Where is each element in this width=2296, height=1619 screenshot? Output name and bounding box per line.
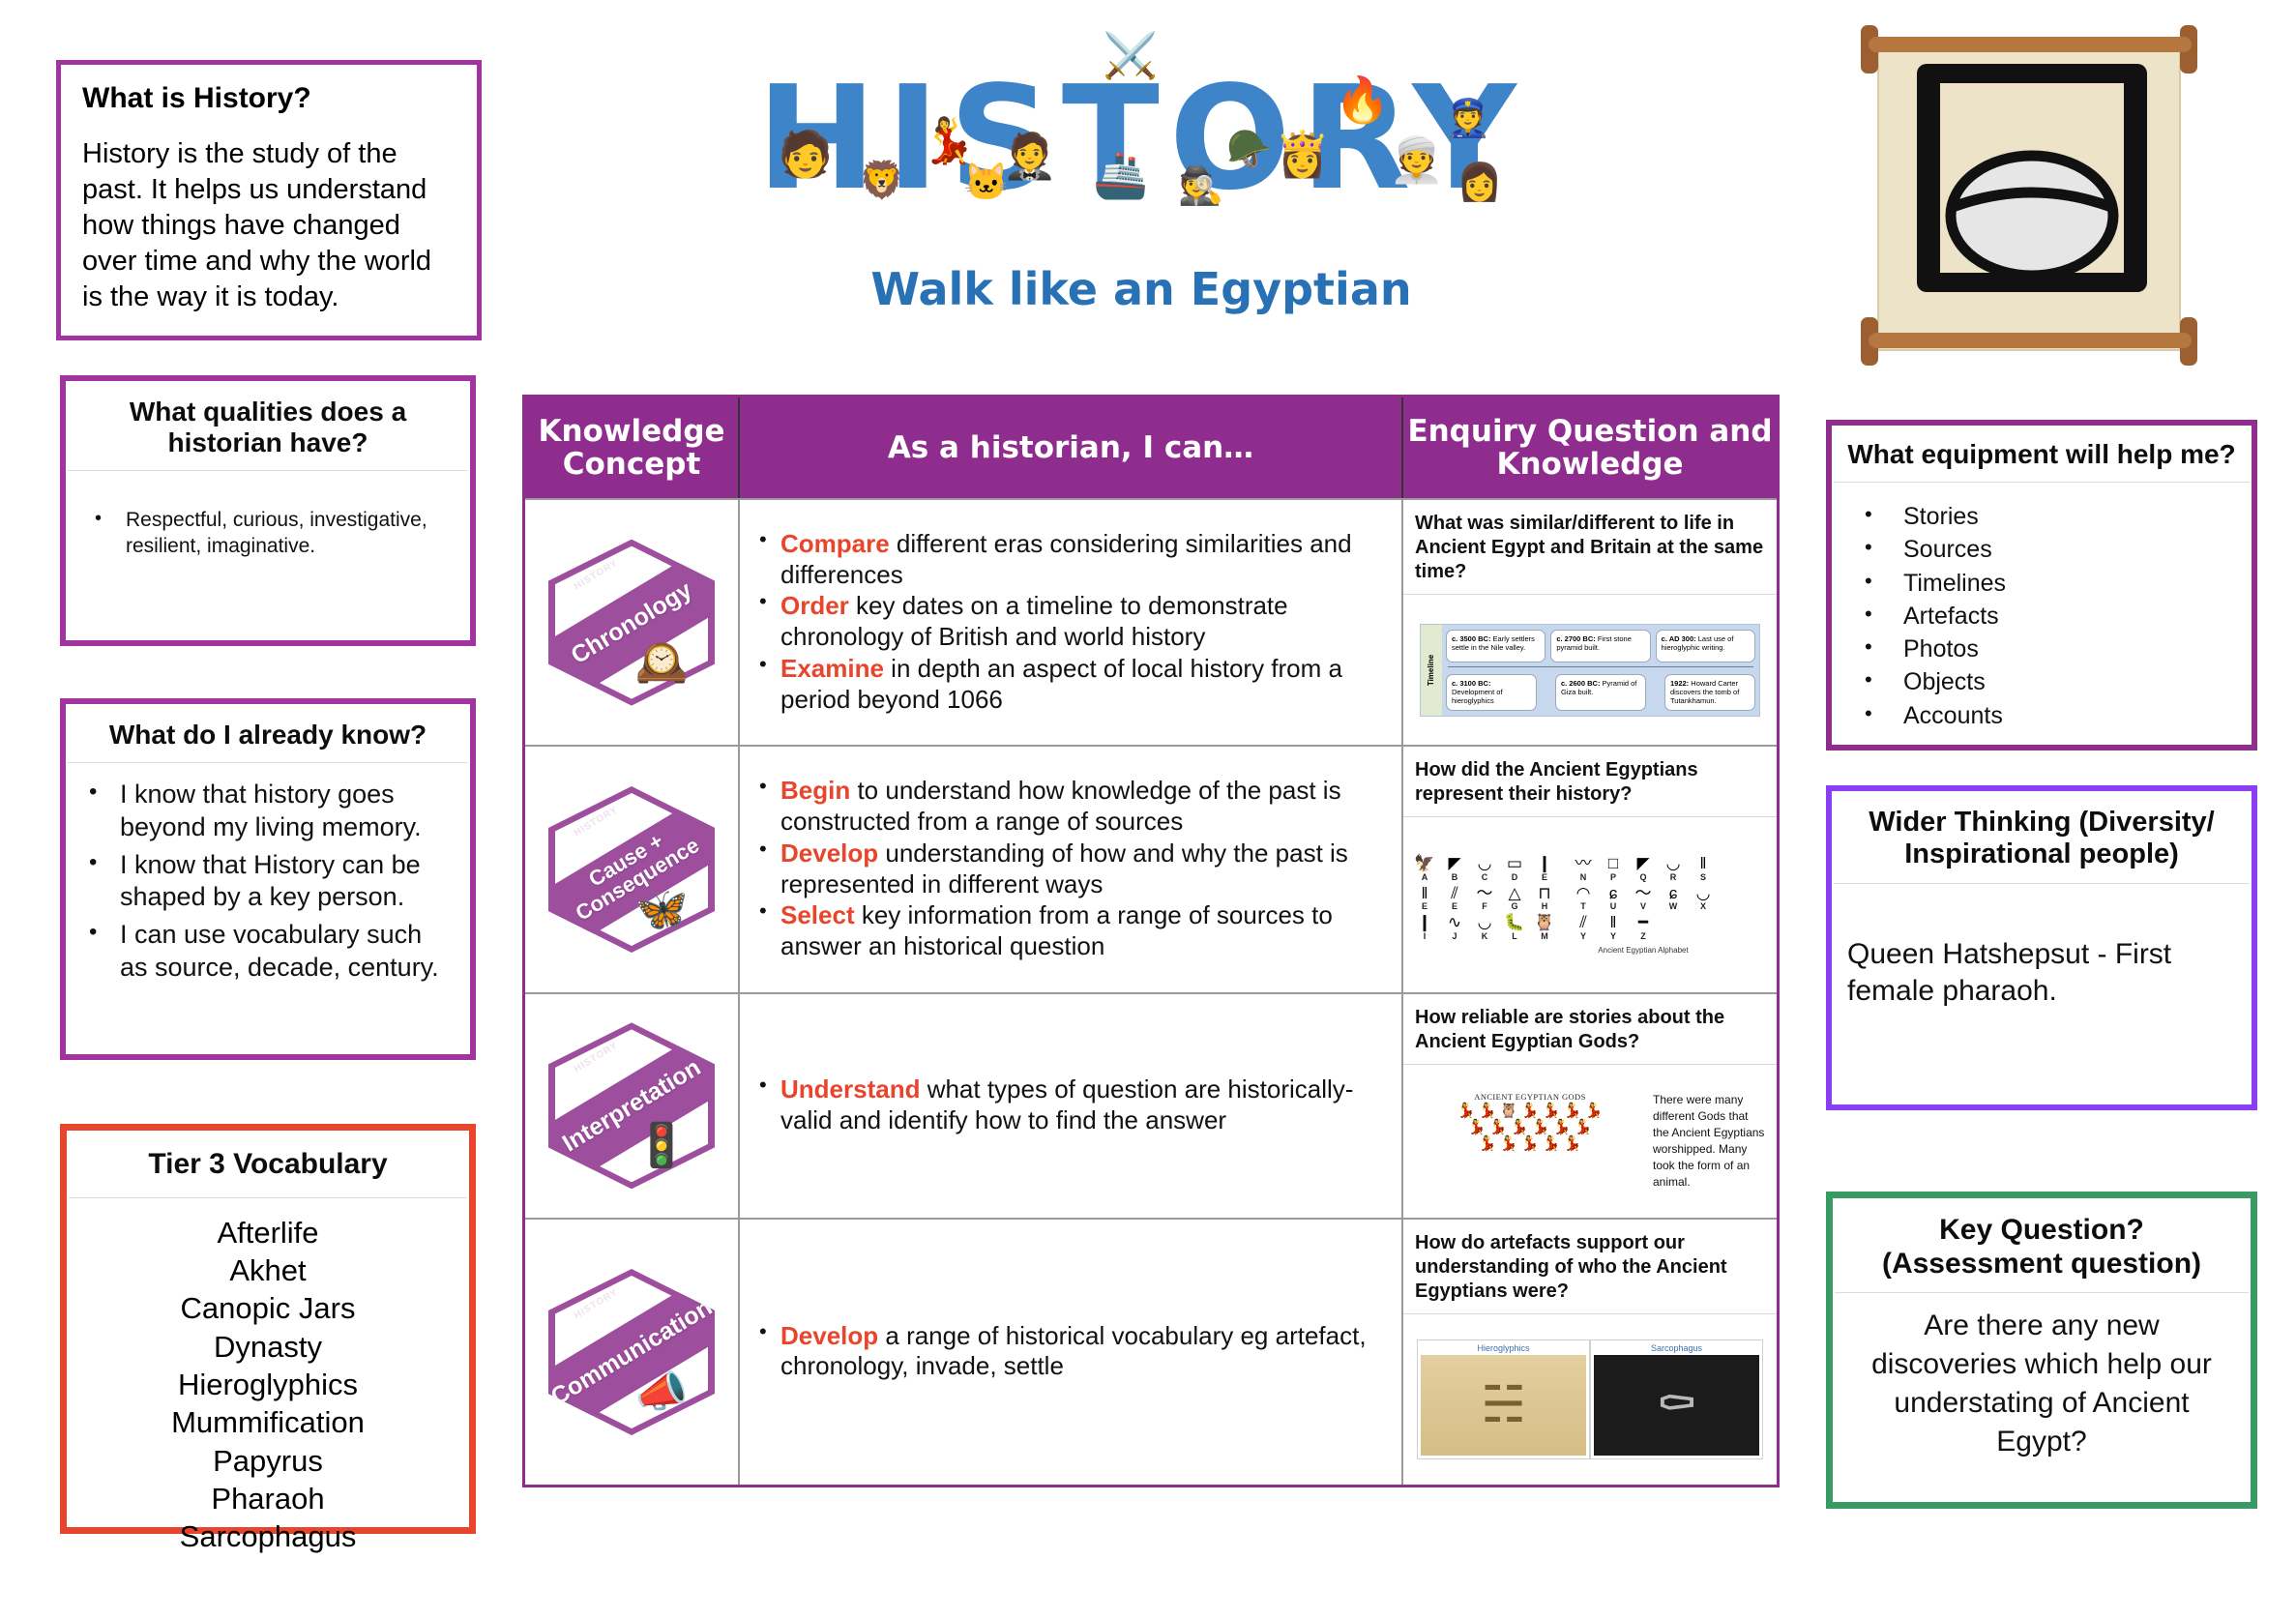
enquiry-question: How reliable are stories about the Ancie… [1403, 994, 1777, 1064]
cause-consequence-hex-badge: HISTORY Cause + Consequence 🦋 [548, 786, 715, 953]
concept-cell: HISTORY Communication 📣 [525, 1220, 740, 1485]
god-figure: 💃 [1532, 1120, 1550, 1134]
god-figure: 💃 [1585, 1104, 1604, 1118]
artefact-item: Hieroglyphics ☵ [1417, 1339, 1590, 1459]
god-figure: 💃 [1500, 1136, 1518, 1151]
table-row: HISTORY Communication 📣 Develop a range … [525, 1218, 1777, 1485]
enquiry-cell: How did the Ancient Egyptians represent … [1403, 747, 1777, 991]
objectives-list: Begin to understand how knowledge of the… [757, 776, 1388, 962]
objectives-list: Understand what types of question are hi… [757, 1074, 1388, 1136]
list-item: Understand what types of question are hi… [757, 1074, 1388, 1135]
what-is-history-body: History is the study of the past. It hel… [61, 115, 477, 316]
timeline-event: c. 3500 BC: Early settlers settle in the… [1446, 630, 1545, 662]
god-figure: 💃 [1457, 1104, 1476, 1118]
glyph: ∿J [1443, 914, 1466, 941]
table-row: HISTORY Cause + Consequence 🦋 Begin to u… [525, 745, 1777, 991]
glyph: ‖Y [1602, 914, 1625, 941]
glyph: ‖E [1413, 885, 1436, 912]
objectives-cell: Develop a range of historical vocabulary… [740, 1220, 1403, 1485]
timeline-event: c. 2700 BC: First stone pyramid built. [1550, 630, 1650, 662]
sarcophagus-image: ⚰ [1594, 1355, 1759, 1456]
enquiry-cell: How reliable are stories about the Ancie… [1403, 994, 1777, 1218]
god-figure: 💃 [1543, 1136, 1561, 1151]
objectives-list: Develop a range of historical vocabulary… [757, 1321, 1388, 1383]
interpretation-hex-badge: HISTORY Interpretation 🚦 [548, 1022, 715, 1189]
list-item: Akhet [67, 1251, 469, 1289]
glyph: ❙I [1413, 914, 1436, 941]
objectives-cell: Understand what types of question are hi… [740, 994, 1403, 1218]
god-figure: 💃 [1564, 1104, 1582, 1118]
list-item: Begin to understand how knowledge of the… [757, 776, 1388, 837]
glyph: ⫽Y [1572, 914, 1595, 941]
list-item: Pharaoh [67, 1480, 469, 1517]
topic-subtitle: Walk like an Egyptian [774, 263, 1509, 315]
list-item: I know that History can be shaped by a k… [81, 849, 455, 915]
timeline-event: 1922: Howard Carter discovers the tomb o… [1664, 674, 1755, 711]
artefact-item: Sarcophagus ⚰ [1590, 1339, 1763, 1459]
enquiry-cell: How do artefacts support our understandi… [1403, 1220, 1777, 1485]
wider-thinking-panel: Wider Thinking (Diversity/ Inspirational… [1826, 785, 2257, 1110]
timeline-side-label: Timeline [1421, 625, 1442, 716]
glyph: ɕU [1602, 885, 1625, 912]
list-item: Compare different eras considering simil… [757, 529, 1388, 590]
glyph: ◡X [1692, 885, 1715, 912]
god-figure: 💃 [1511, 1120, 1529, 1134]
gods-figure-rows: 💃 💃 🦉 💃 💃 💃 💃 💃 [1415, 1104, 1645, 1151]
artefacts-graphic: Hieroglyphics ☵ Sarcophagus ⚰ [1403, 1314, 1777, 1485]
glyph: 🐛L [1503, 914, 1526, 941]
glyph: 🦅A [1413, 855, 1436, 882]
prior-knowledge-title: What do I already know? [66, 704, 470, 762]
god-figure: 💃 [1575, 1120, 1593, 1134]
timeline-graphic: Timeline c. 3500 BC: Early settlers sett… [1403, 595, 1777, 745]
equipment-title: What equipment will help me? [1832, 426, 2252, 482]
glyph: ‖S [1692, 855, 1715, 882]
tier3-vocabulary-list: Afterlife Akhet Canopic Jars Dynasty Hie… [67, 1198, 469, 1556]
timeline-axis [1448, 666, 1753, 667]
glyph: ❙E [1533, 855, 1556, 882]
glyph: 🦉M [1533, 914, 1556, 941]
key-question-title: Key Question? (Assessment question) [1833, 1198, 2251, 1292]
list-item: Respectful, curious, investigative, resi… [81, 508, 455, 559]
key-question-body: Are there any new discoveries which help… [1833, 1293, 2251, 1475]
historian-qualities-list: Respectful, curious, investigative, resi… [81, 508, 455, 559]
megaphone-icon: 📣 [635, 1371, 689, 1414]
god-figure: 🦉 [1500, 1104, 1518, 1118]
god-figure: 💃 [1521, 1136, 1540, 1151]
egyptian-gods-graphic: ANCIENT EGYPTIAN GODS 💃 💃 🦉 💃 💃 💃 💃 [1403, 1065, 1777, 1218]
list-item: Sources [1847, 535, 2236, 565]
list-item: Canopic Jars [67, 1289, 469, 1327]
glyph: ◡C [1473, 855, 1496, 882]
table-row: HISTORY Chronology 🕰️ Compare different … [525, 498, 1777, 745]
historian-qualities-title: What qualities does a historian have? [66, 381, 470, 470]
objectives-cell: Compare different eras considering simil… [740, 500, 1403, 745]
what-is-history-title: What is History? [61, 65, 477, 115]
glyph: □P [1602, 855, 1625, 882]
list-item: Select key information from a range of s… [757, 900, 1388, 961]
god-figure: 💃 [1479, 1104, 1497, 1118]
history-wordmark-text: HISTORY [756, 67, 1525, 210]
timeline-event: c. AD 300: Last use of hieroglyphic writ… [1656, 630, 1755, 662]
god-figure: 💃 [1553, 1120, 1572, 1134]
glyph: ▭D [1503, 855, 1526, 882]
communication-hex-badge: HISTORY Communication 📣 [548, 1269, 715, 1435]
glyph: ◤Q [1632, 855, 1655, 882]
wider-thinking-body: Queen Hatshepsut - First female pharaoh. [1832, 884, 2252, 1024]
street-signs-icon: 🚦 [635, 1125, 689, 1167]
enquiry-question: How did the Ancient Egyptians represent … [1403, 747, 1777, 816]
artefact-caption: Hieroglyphics [1421, 1343, 1586, 1353]
history-title-artwork: HISTORY 🧑 🦁 💃 🐱 🤵 ⚔️ 🚢 🕵 🪖 👸 🔥 👳 👮 👩 Wal… [774, 17, 1509, 366]
hex-concept-label: Chronology [548, 540, 715, 706]
list-item: Examine in depth an aspect of local hist… [757, 654, 1388, 715]
list-item: Develop understanding of how and why the… [757, 839, 1388, 899]
objectives-list: Compare different eras considering simil… [757, 529, 1388, 716]
enquiry-cell: What was similar/different to life in An… [1403, 500, 1777, 745]
list-item: Timelines [1847, 569, 2236, 599]
list-item: Dynasty [67, 1328, 469, 1366]
enquiry-question: What was similar/different to life in An… [1403, 500, 1777, 594]
list-item: Papyrus [67, 1442, 469, 1480]
list-item: Hieroglyphics [67, 1366, 469, 1403]
alphabet-left-columns: 🦅A ◤B ◡C ▭D ❙E ‖E ⫽E 〜F [1413, 855, 1556, 956]
glyph: ◤B [1443, 855, 1466, 882]
alphabet-caption: Ancient Egyptian Alphabet [1572, 946, 1715, 955]
list-item: Accounts [1847, 701, 2236, 731]
list-item: Develop a range of historical vocabulary… [757, 1321, 1388, 1382]
god-figure: 💃 [1479, 1136, 1497, 1151]
artefact-caption: Sarcophagus [1594, 1343, 1759, 1353]
god-figure: 💃 [1521, 1104, 1540, 1118]
list-item: Order key dates on a timeline to demonst… [757, 591, 1388, 652]
equipment-panel: What equipment will help me? Stories Sou… [1826, 420, 2257, 751]
list-item: Stories [1847, 502, 2236, 532]
timeline-event: c. 3100 BC: Development of hieroglyphics [1446, 674, 1537, 711]
column-header-as-a-historian: As a historian, I can… [740, 397, 1403, 498]
key-question-panel: Key Question? (Assessment question) Are … [1826, 1192, 2257, 1509]
timeline-bottom-events: c. 3100 BC: Development of hieroglyphics… [1446, 674, 1755, 711]
knowledge-organiser-page: What is History? History is the study of… [0, 0, 2296, 1619]
concept-cell: HISTORY Chronology 🕰️ [525, 500, 740, 745]
hex-concept-label: Cause + Consequence [548, 786, 715, 953]
list-item: I can use vocabulary such as source, dec… [81, 919, 455, 985]
glyph: ◠T [1572, 885, 1595, 912]
list-item: I know that history goes beyond my livin… [81, 779, 455, 844]
what-is-history-panel: What is History? History is the study of… [56, 60, 482, 340]
hex-concept-label: Interpretation [548, 1022, 715, 1189]
list-item: Afterlife [67, 1214, 469, 1251]
papyrus-scroll-icon [1818, 8, 2253, 385]
table-row: HISTORY Interpretation 🚦 Understand what… [525, 992, 1777, 1218]
glyph: ɕW [1662, 885, 1685, 912]
concept-cell: HISTORY Cause + Consequence 🦋 [525, 747, 740, 991]
tier3-vocabulary-panel: Tier 3 Vocabulary Afterlife Akhet Canopi… [60, 1124, 476, 1534]
god-figure: 💃 [1489, 1120, 1508, 1134]
column-header-knowledge-concept: Knowledge Concept [525, 397, 740, 498]
list-item: Photos [1847, 634, 2236, 664]
glyph: ━Z [1632, 914, 1655, 941]
butterfly-icon: 🦋 [635, 889, 689, 931]
history-wordmark: HISTORY 🧑 🦁 💃 🐱 🤵 ⚔️ 🚢 🕵 🪖 👸 🔥 👳 👮 👩 [774, 17, 1509, 259]
concept-cell: HISTORY Interpretation 🚦 [525, 994, 740, 1218]
equipment-list: Stories Sources Timelines Artefacts Phot… [1847, 502, 2236, 731]
god-figure: 💃 [1543, 1104, 1561, 1118]
glyph: ◡K [1473, 914, 1496, 941]
glyph: 〰N [1572, 855, 1595, 882]
glyph: 〜V [1632, 885, 1655, 912]
prior-knowledge-list: I know that history goes beyond my livin… [81, 779, 455, 985]
column-header-enquiry-question: Enquiry Question and Knowledge [1403, 397, 1777, 498]
list-item: Artefacts [1847, 602, 2236, 632]
objectives-cell: Begin to understand how knowledge of the… [740, 747, 1403, 991]
timeline-top-events: c. 3500 BC: Early settlers settle in the… [1446, 630, 1755, 662]
list-item: Objects [1847, 667, 2236, 697]
tier3-vocabulary-title: Tier 3 Vocabulary [67, 1131, 469, 1197]
mantel-clock-icon: 🕰️ [635, 641, 689, 684]
enquiry-question: How do artefacts support our understandi… [1403, 1220, 1777, 1313]
hex-concept-label: Communication [548, 1269, 715, 1435]
gods-title: ANCIENT EGYPTIAN GODS [1415, 1092, 1645, 1102]
hieroglyphics-image: ☵ [1421, 1355, 1586, 1456]
timeline-event: c. 2600 BC: Pyramid of Giza built. [1555, 674, 1646, 711]
prior-knowledge-panel: What do I already know? I know that hist… [60, 698, 476, 1060]
glyph: ⊓H [1533, 885, 1556, 912]
historian-qualities-panel: What qualities does a historian have? Re… [60, 375, 476, 646]
glyph: 〜F [1473, 885, 1496, 912]
glyph: ◡R [1662, 855, 1685, 882]
alphabet-right-columns: 〰N □P ◤Q ◡R ‖S ◠T ɕU 〜V [1572, 855, 1715, 956]
list-item: Sarcophagus [67, 1517, 469, 1555]
glyph: △G [1503, 885, 1526, 912]
chronology-hex-badge: HISTORY Chronology 🕰️ [548, 540, 715, 706]
egyptian-alphabet-graphic: 🦅A ◤B ◡C ▭D ❙E ‖E ⫽E 〜F [1403, 817, 1777, 991]
wider-thinking-title: Wider Thinking (Diversity/ Inspirational… [1832, 791, 2252, 883]
glyph: ⫽E [1443, 885, 1466, 912]
god-figure: 💃 [1468, 1120, 1487, 1134]
god-figure: 💃 [1564, 1136, 1582, 1151]
gods-description: There were many different Gods that the … [1653, 1092, 1765, 1191]
knowledge-table: Knowledge Concept As a historian, I can…… [522, 395, 1780, 1487]
list-item: Mummification [67, 1403, 469, 1441]
table-header-row: Knowledge Concept As a historian, I can…… [525, 397, 1777, 498]
